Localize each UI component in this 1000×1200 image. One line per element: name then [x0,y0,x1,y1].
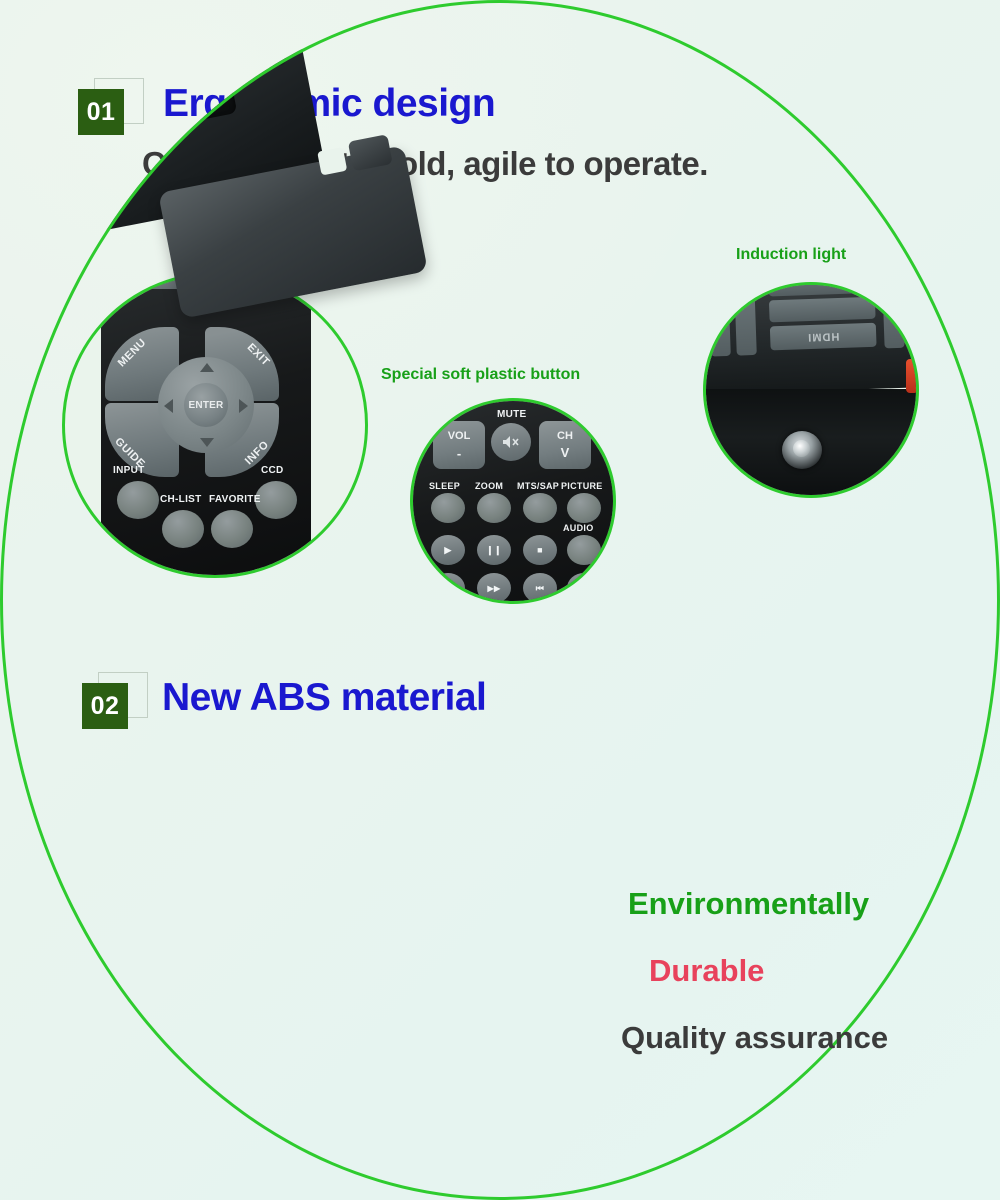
battery-cover-notch [317,147,347,176]
caption-quality-assurance: Quality assurance [621,1020,888,1056]
battery-spring-2 [160,87,187,111]
photo-circle-battery-compartment [0,0,312,312]
battery-cover-tab [348,134,393,171]
battery-terminal-2 [187,79,215,107]
caption-environmentally: Environmentally [628,886,869,922]
battery-terminal-1 [178,36,206,64]
screw-icon [44,209,56,221]
battery-spring-1 [151,43,178,67]
caption-durable: Durable [649,953,764,989]
infographic-canvas: 01 Ergonomic design Comfortable to hold,… [0,0,1000,1200]
